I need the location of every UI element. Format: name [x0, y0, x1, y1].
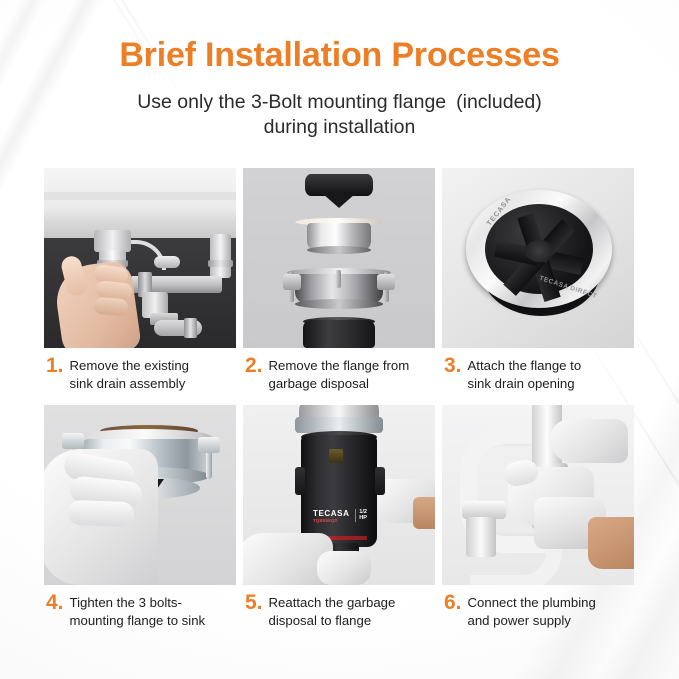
disposal-horsepower: 1/2 HP	[355, 509, 367, 522]
assembly-ear-left	[62, 433, 84, 449]
sink-stopper	[305, 174, 373, 196]
step-5-line2: disposal to flange	[269, 613, 372, 628]
mounting-ear-left	[283, 274, 301, 290]
infographic-page: Brief Installation Processes Use only th…	[0, 0, 679, 679]
step-1-caption: 1. Remove the existing sink drain assemb…	[44, 348, 236, 392]
steps-row-bottom: 4. Tighten the 3 bolts- mounting flange …	[44, 405, 635, 629]
page-title: Brief Installation Processes	[0, 36, 679, 75]
step-2-line1: Remove the flange from	[269, 358, 410, 373]
step-1-text: Remove the existing sink drain assembly	[70, 357, 189, 392]
subtitle-line1-text: Use only the 3-Bolt mounting flange	[137, 91, 446, 113]
forearm	[588, 517, 634, 569]
disposal-neck	[303, 320, 375, 348]
mounting-assembly-bottom	[295, 299, 383, 309]
step-6-number: 6.	[444, 594, 462, 629]
cabinet-rail	[44, 192, 236, 200]
disposal-badge	[329, 449, 343, 463]
subtitle-line2: during installation	[0, 115, 679, 140]
step-5-photo-disposal-unit: TECASA TQB550QD 1/2 HP	[243, 405, 435, 585]
step-cell-5: TECASA TQB550QD 1/2 HP 5. Reattach the	[243, 405, 435, 629]
step-4-line2: mounting flange to sink	[70, 613, 206, 628]
step-3-number: 3.	[444, 357, 462, 392]
flange-sleeve-bottom	[307, 246, 371, 254]
step-4-photo-mounting-assembly	[44, 405, 236, 585]
step-3-text: Attach the flange to sink drain opening	[468, 357, 582, 392]
right-pipe-nut	[208, 260, 233, 267]
step-cell-3: TECASA TECASA DIRECT 3. Attach the flang…	[442, 168, 634, 392]
step-4-number: 4.	[46, 594, 64, 629]
step-6-line2: and power supply	[468, 613, 571, 628]
mounting-bolt-center	[336, 270, 341, 288]
step-6-text: Connect the plumbing and power supply	[468, 594, 596, 629]
assembly-ear-right	[198, 437, 220, 453]
disposal-hp-unit: HP	[359, 515, 367, 521]
stopper-cone	[323, 194, 355, 208]
drain-tailpiece-top	[94, 230, 131, 252]
step-2-line2: garbage disposal	[269, 376, 369, 391]
right-drain-pipe	[210, 234, 231, 278]
page-subtitle: Use only the 3-Bolt mounting flange(incl…	[0, 90, 679, 140]
step-cell-1: 1. Remove the existing sink drain assemb…	[44, 168, 236, 392]
step-2-number: 2.	[245, 357, 263, 392]
step-5-number: 5.	[245, 594, 263, 629]
steps-row-top: 1. Remove the existing sink drain assemb…	[44, 168, 635, 392]
step-4-line1: Tighten the 3 bolts-	[70, 595, 182, 610]
splash-guard-hub	[525, 240, 553, 262]
step-3-photo-flange-installed: TECASA TECASA DIRECT	[442, 168, 634, 348]
pipe-nut-c	[184, 318, 197, 338]
step-4-caption: 4. Tighten the 3 bolts- mounting flange …	[44, 585, 236, 629]
step-1-number: 1.	[46, 357, 64, 392]
subtitle-included-note: (included)	[456, 91, 542, 113]
mounting-ear-right	[377, 274, 395, 290]
step-2-photo-exploded-flange	[243, 168, 435, 348]
step-5-caption: 5. Reattach the garbage disposal to flan…	[243, 585, 435, 629]
sink-underside	[44, 168, 236, 238]
forearm-right	[413, 497, 435, 529]
step-1-line2: sink drain assembly	[70, 376, 186, 391]
steps-grid: 1. Remove the existing sink drain assemb…	[44, 168, 635, 629]
disposal-hp-value: 1/2	[359, 509, 367, 515]
step-2-text: Remove the flange from garbage disposal	[269, 357, 410, 392]
step-cell-2: 2. Remove the flange from garbage dispos…	[243, 168, 435, 392]
disposal-label: TECASA TQB550QD 1/2 HP	[313, 509, 367, 535]
glove-supporting-hand	[317, 551, 371, 585]
step-3-caption: 3. Attach the flange to sink drain openi…	[442, 348, 634, 392]
step-cell-4: 4. Tighten the 3 bolts- mounting flange …	[44, 405, 236, 629]
step-3-line2: sink drain opening	[468, 376, 575, 391]
step-3-line1: Attach the flange to	[468, 358, 582, 373]
hand-finger	[93, 297, 128, 316]
step-5-line1: Reattach the garbage	[269, 595, 396, 610]
step-1-line1: Remove the existing	[70, 358, 189, 373]
disposal-lug-left	[295, 467, 305, 495]
step-2-caption: 2. Remove the flange from garbage dispos…	[243, 348, 435, 392]
glove-finger	[68, 500, 135, 527]
step-6-line1: Connect the plumbing	[468, 595, 596, 610]
glove-upper-hand	[550, 419, 628, 463]
p-trap-lower-bend	[470, 545, 562, 585]
small-valve	[154, 256, 180, 268]
step-4-text: Tighten the 3 bolts- mounting flange to …	[70, 594, 206, 629]
step-cell-6: 6. Connect the plumbing and power supply	[442, 405, 634, 629]
step-1-photo-sink-drain-removal	[44, 168, 236, 348]
step-6-photo-plumbing-connection	[442, 405, 634, 585]
step-6-caption: 6. Connect the plumbing and power supply	[442, 585, 634, 629]
step-5-text: Reattach the garbage disposal to flange	[269, 594, 396, 629]
disposal-lug-right	[375, 467, 385, 495]
